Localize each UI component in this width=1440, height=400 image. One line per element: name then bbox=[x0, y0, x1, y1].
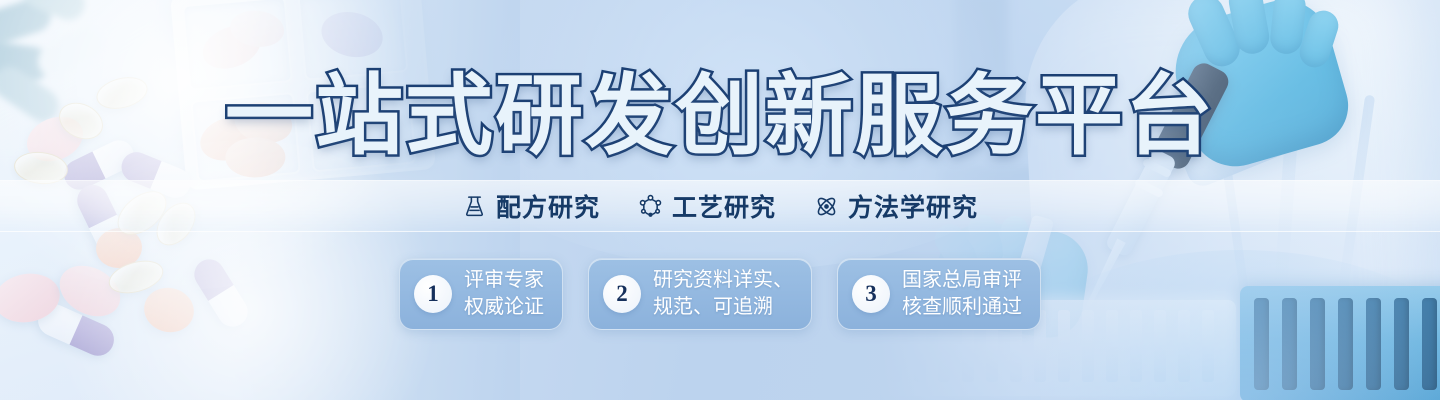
glove-finger bbox=[1183, 0, 1246, 72]
molecule-icon bbox=[638, 194, 663, 219]
feature-line-2: 规范、可追溯 bbox=[653, 295, 793, 320]
feature-card-list: 1 评审专家 权威论证 2 研究资料详实、 规范、可追溯 3 国家总局审评 核查… bbox=[0, 258, 1440, 330]
feature-line-1: 国家总局审评 bbox=[902, 268, 1022, 293]
glove-finger bbox=[1226, 0, 1272, 56]
service-label: 配方研究 bbox=[496, 188, 600, 224]
promo-banner: 一站式研发创新服务平台 配方研究 bbox=[0, 0, 1440, 400]
feature-line-1: 研究资料详实、 bbox=[653, 268, 793, 293]
feature-number-badge: 2 bbox=[603, 275, 641, 313]
service-band: 配方研究 工艺研究 bbox=[0, 180, 1440, 232]
feature-line-2: 核查顺利通过 bbox=[902, 295, 1022, 320]
banner-title: 一站式研发创新服务平台 bbox=[0, 72, 1440, 160]
feature-card-text: 国家总局审评 核查顺利通过 bbox=[902, 268, 1022, 319]
atom-icon bbox=[814, 194, 839, 219]
feature-card[interactable]: 2 研究资料详实、 规范、可追溯 bbox=[588, 258, 812, 330]
flask-icon bbox=[462, 194, 487, 219]
feature-card-text: 研究资料详实、 规范、可追溯 bbox=[653, 268, 793, 319]
feature-number-badge: 3 bbox=[852, 275, 890, 313]
feature-number-badge: 1 bbox=[414, 275, 452, 313]
feature-card[interactable]: 3 国家总局审评 核查顺利通过 bbox=[837, 258, 1041, 330]
feature-line-1: 评审专家 bbox=[464, 268, 544, 293]
glove-finger bbox=[1296, 7, 1342, 71]
service-item-process[interactable]: 工艺研究 bbox=[638, 188, 776, 224]
service-item-formulation[interactable]: 配方研究 bbox=[462, 188, 600, 224]
feature-card-text: 评审专家 权威论证 bbox=[464, 268, 544, 319]
feature-line-2: 权威论证 bbox=[464, 295, 544, 320]
service-label: 方法学研究 bbox=[848, 188, 978, 224]
feature-card[interactable]: 1 评审专家 权威论证 bbox=[399, 258, 563, 330]
service-label: 工艺研究 bbox=[672, 188, 776, 224]
glove-finger bbox=[1269, 0, 1308, 55]
service-item-methodology[interactable]: 方法学研究 bbox=[814, 188, 978, 224]
